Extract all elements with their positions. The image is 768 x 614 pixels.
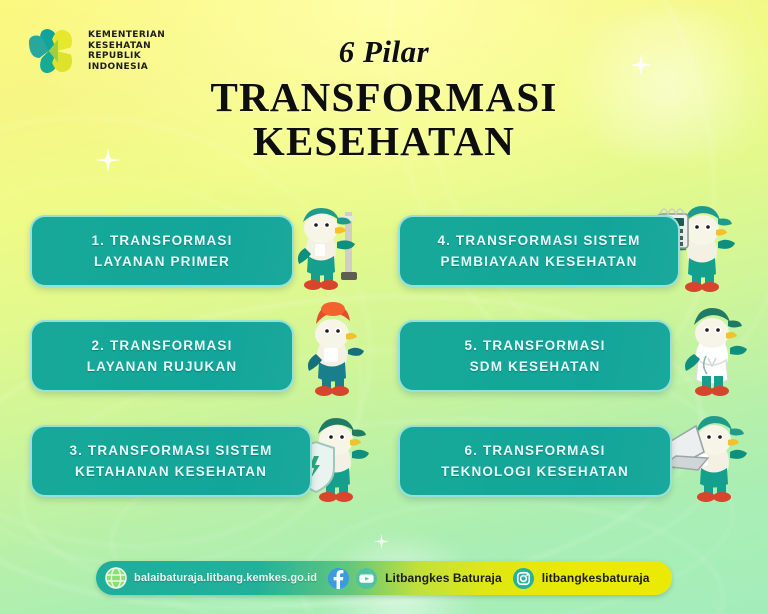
sparkle-icon <box>717 330 733 346</box>
mascot-bird-red-helmet <box>290 300 376 400</box>
pillar-card-2-label: 2. TRANSFORMASI LAYANAN RUJUKAN <box>87 335 238 377</box>
footer-instagram-item[interactable]: litbangkesbaturaja <box>512 561 650 595</box>
mascot-bird-lab-coat <box>668 300 756 400</box>
pillar-card-4[interactable]: 4. TRANSFORMASI SISTEM PEMBIAYAAN KESEHA… <box>398 215 680 287</box>
footer-website-text: balaibaturaja.litbang.kemkes.go.id <box>134 572 317 584</box>
pillar-card-6-label: 6. TRANSFORMASI TEKNOLOGI KESEHATAN <box>441 440 629 482</box>
footer-website-item[interactable]: balaibaturaja.litbang.kemkes.go.id <box>104 561 317 595</box>
mascot-bird-measuring-scale <box>283 198 375 296</box>
pillar-card-1-label: 1. TRANSFORMASI LAYANAN PRIMER <box>91 230 232 272</box>
footer-contact-bar: balaibaturaja.litbang.kemkes.go.id Litba… <box>96 561 672 595</box>
pillar-card-1[interactable]: 1. TRANSFORMASI LAYANAN PRIMER <box>30 215 294 287</box>
pillar-card-3-label: 3. TRANSFORMASI SISTEM KETAHANAN KESEHAT… <box>69 440 272 482</box>
footer-social-name: Litbangkes Baturaja <box>385 571 502 585</box>
sparkle-icon <box>374 534 389 549</box>
mascot-bird-laptop <box>660 408 756 506</box>
pillar-card-5-label: 5. TRANSFORMASI SDM KESEHATAN <box>464 335 605 377</box>
instagram-icon <box>512 567 535 590</box>
globe-icon <box>104 566 128 590</box>
title-line-2: KESEHATAN <box>0 115 768 167</box>
footer-social-item[interactable]: Litbangkes Baturaja <box>327 561 502 595</box>
pillar-card-2[interactable]: 2. TRANSFORMASI LAYANAN RUJUKAN <box>30 320 294 392</box>
facebook-icon <box>327 567 350 590</box>
title-eyebrow: 6 Pilar <box>0 36 768 67</box>
poster-title: 6 Pilar TRANSFORMASI KESEHATAN <box>0 36 768 167</box>
pillar-card-3[interactable]: 3. TRANSFORMASI SISTEM KETAHANAN KESEHAT… <box>30 425 312 497</box>
pillar-card-5[interactable]: 5. TRANSFORMASI SDM KESEHATAN <box>398 320 672 392</box>
youtube-icon <box>355 567 378 590</box>
footer-instagram-handle: litbangkesbaturaja <box>542 571 650 585</box>
background-swirl <box>297 493 727 614</box>
pillar-card-4-label: 4. TRANSFORMASI SISTEM PEMBIAYAAN KESEHA… <box>437 230 640 272</box>
infographic-poster: KEMENTERIAN KESEHATAN REPUBLIK INDONESIA… <box>0 0 768 614</box>
pillar-card-6[interactable]: 6. TRANSFORMASI TEKNOLOGI KESEHATAN <box>398 425 672 497</box>
